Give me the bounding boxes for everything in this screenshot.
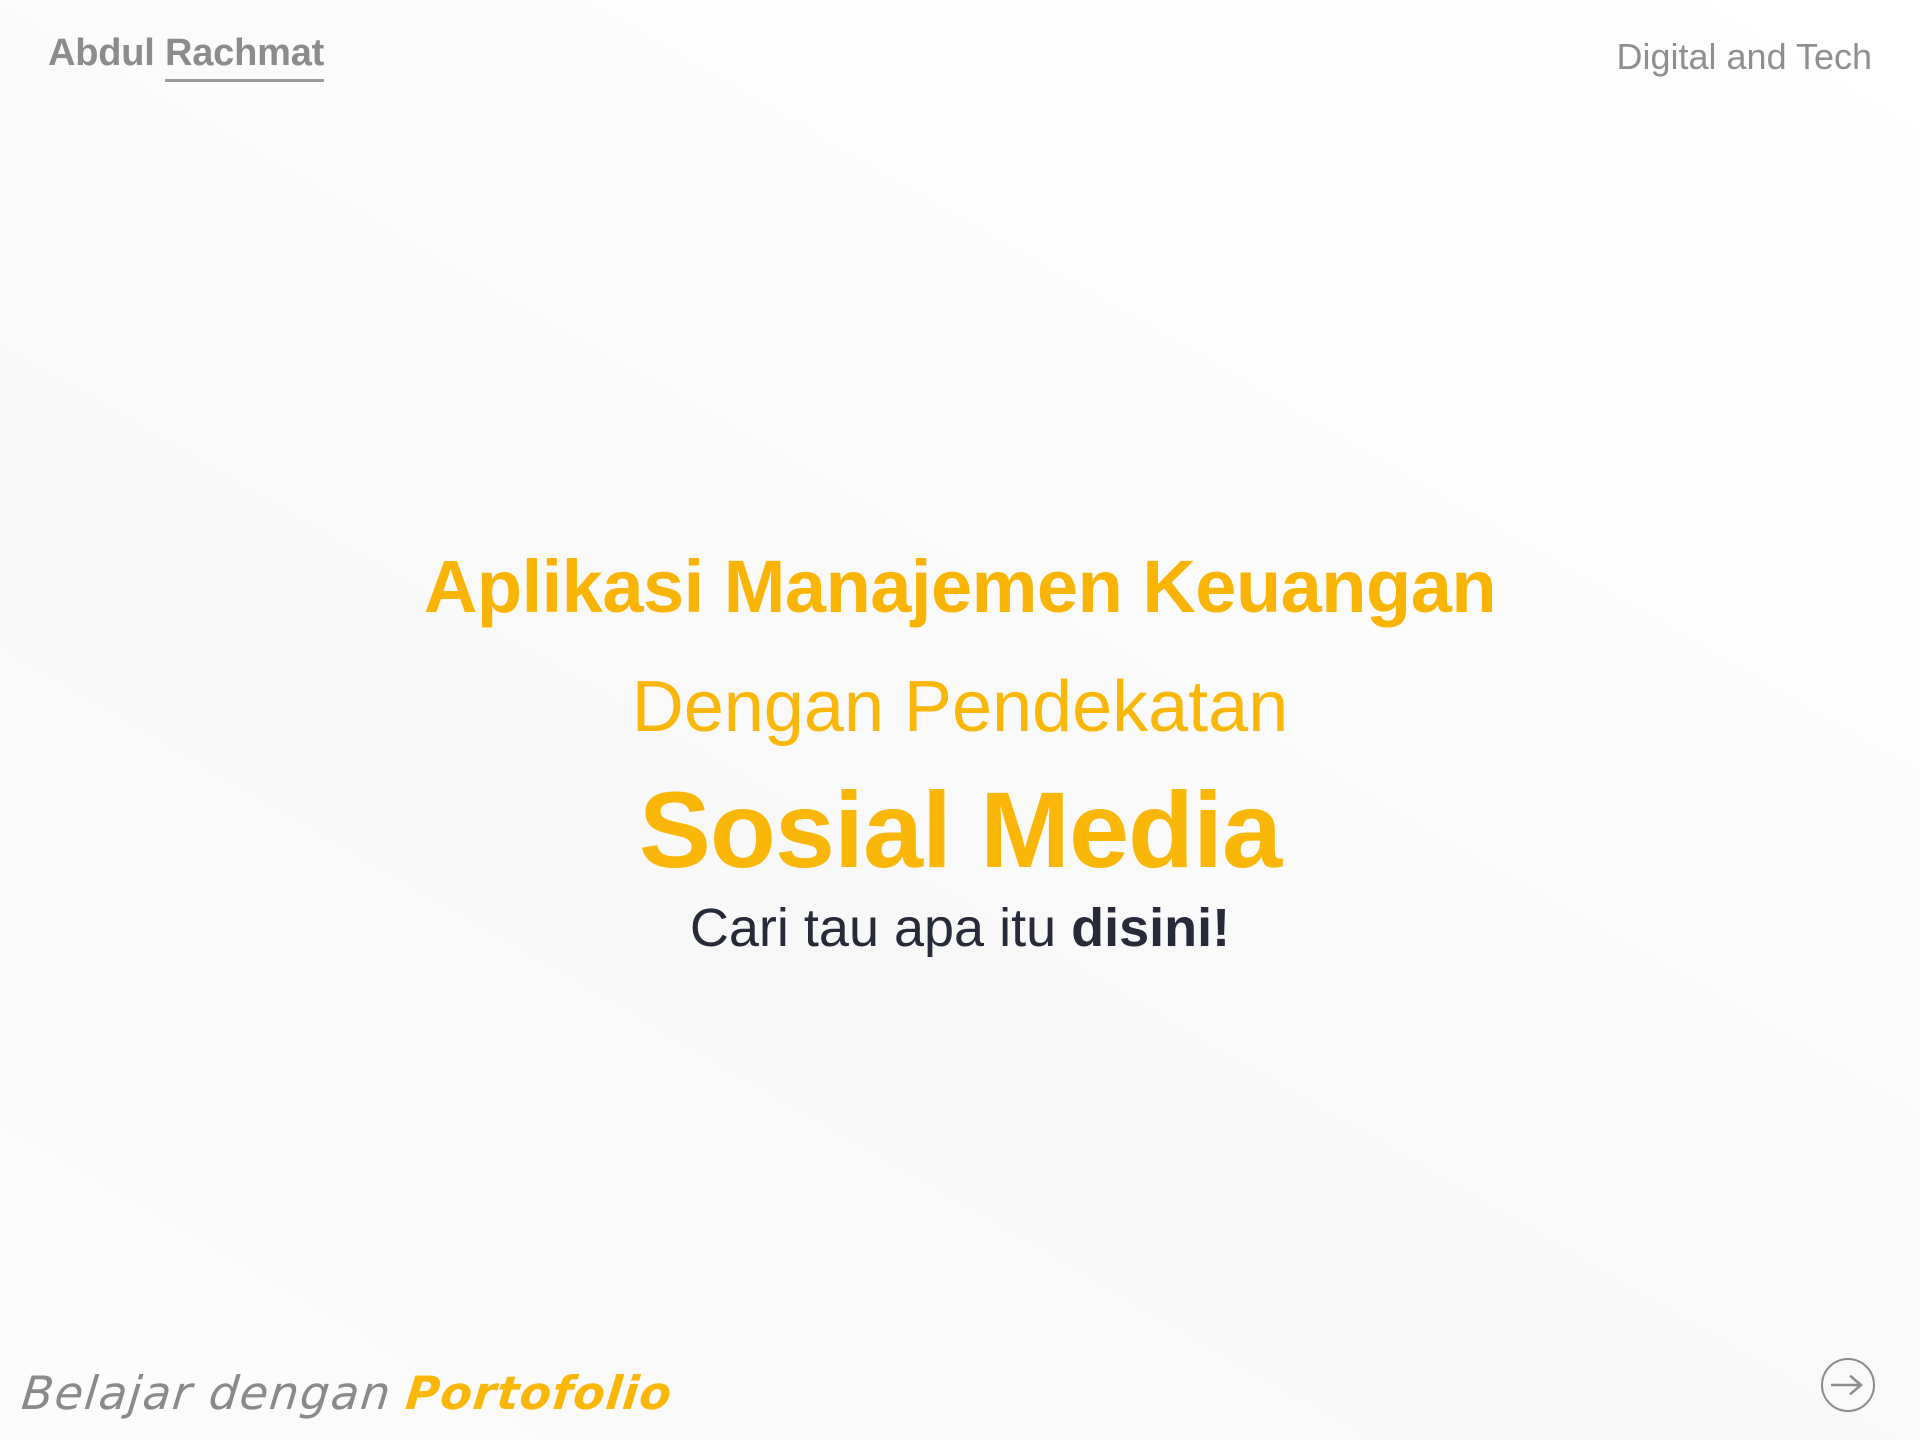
presenter-last-name: Rachmat [165,32,324,82]
footer-tagline-amber: Portofolio [403,1370,674,1416]
title-line-primary: Aplikasi Manajemen Keuangan [0,548,1920,626]
presenter-name: Abdul Rachmat [48,32,324,75]
category-label: Digital and Tech [1617,36,1873,78]
subtitle: Cari tau apa itu disini! [0,897,1920,959]
title-line-secondary: Dengan Pendekatan [0,670,1920,746]
arrow-right-circle-icon [1831,1373,1865,1397]
title-line-emphasis: Sosial Media [0,773,1920,886]
next-slide-button[interactable] [1821,1358,1875,1412]
footer-tagline: Belajar denganPortofolio [22,1370,672,1416]
presenter-first-name: Abdul [48,32,165,74]
title-block: Aplikasi Manajemen Keuangan Dengan Pende… [0,548,1920,959]
subtitle-emphasis: disini! [1071,898,1230,958]
footer-tagline-gray: Belajar dengan [20,1370,394,1416]
slide-canvas: Abdul Rachmat Digital and Tech Aplikasi … [0,0,1920,1440]
subtitle-text: Cari tau apa itu [690,898,1071,958]
